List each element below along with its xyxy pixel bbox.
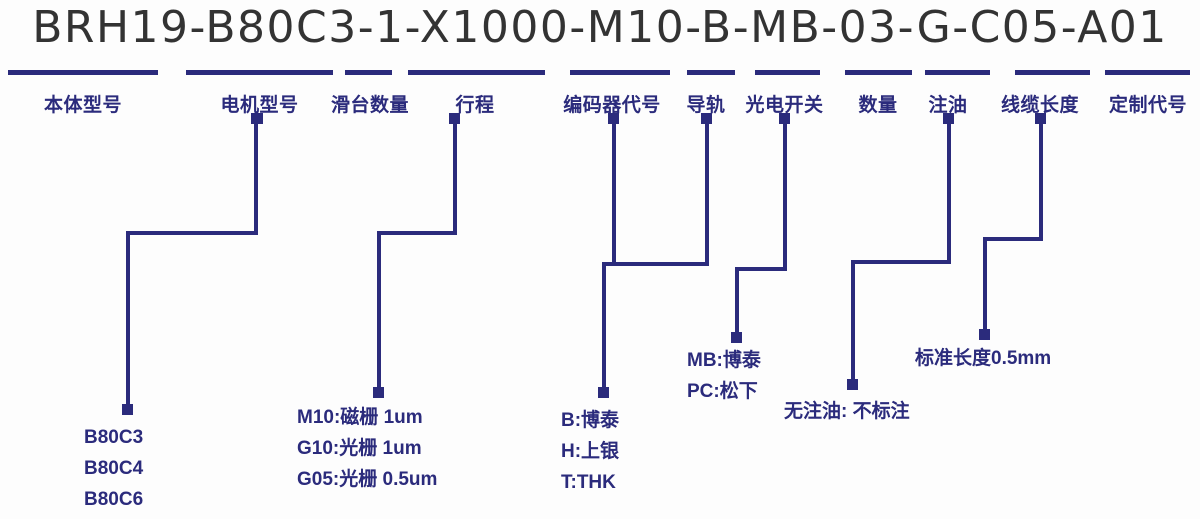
callout-option: M10:磁栅 1um xyxy=(297,402,437,433)
leader-cap-cable-length-end xyxy=(979,329,990,340)
field-label-stroke: 行程 xyxy=(430,90,520,117)
callout-option: PC:松下 xyxy=(687,376,761,407)
field-label-slide-count: 滑台数量 xyxy=(330,90,410,117)
leader-motor-model-v2 xyxy=(377,231,381,394)
field-label-custom-code: 定制代号 xyxy=(1100,90,1196,117)
leader-body-model-v2 xyxy=(126,231,130,411)
leader-lubrication-v1 xyxy=(947,120,951,263)
leader-cable-length-h xyxy=(983,237,1043,241)
callout-option: G10:光栅 1um xyxy=(297,433,437,464)
leader-photo-switch-v2 xyxy=(735,267,739,337)
leader-cap-motor-model-end xyxy=(373,387,384,398)
callout-body-model: B80C3 B80C4 B80C6 xyxy=(84,422,143,515)
leader-lubrication-v2 xyxy=(851,260,855,384)
callout-option: H:上银 xyxy=(561,436,619,467)
code-rule-rail xyxy=(687,70,735,75)
callout-option: T:THK xyxy=(561,467,619,498)
leader-cap-photo-switch-end xyxy=(731,332,742,343)
callout-option: B80C4 xyxy=(84,453,143,484)
model-number-breakdown-diagram: BRH19-B80C3-1-X1000-M10-B-MB-03-G-C05-A0… xyxy=(0,0,1200,519)
code-rule-stroke xyxy=(408,70,545,75)
leader-encoder-v1 xyxy=(612,120,616,265)
leader-encoder-v2 xyxy=(602,262,606,394)
leader-cable-length-v1 xyxy=(1039,120,1043,240)
leader-photo-switch-h xyxy=(735,267,787,271)
callout-photo-switch: MB:博泰 PC:松下 xyxy=(687,345,761,407)
code-rule-slide-count xyxy=(345,70,392,75)
leader-cable-length-v2 xyxy=(983,237,987,334)
leader-rail-v1 xyxy=(705,120,709,265)
leader-cap-motor-model-start xyxy=(252,113,263,124)
callout-option: B80C6 xyxy=(84,484,143,515)
code-rule-custom-code xyxy=(1105,70,1190,75)
callout-option: MB:博泰 xyxy=(687,345,761,376)
callout-encoder-spec: M10:磁栅 1um G10:光栅 1um G05:光栅 0.5um xyxy=(297,402,437,495)
code-rule-lubrication xyxy=(925,70,990,75)
leader-rail-h xyxy=(602,262,709,266)
code-rule-encoder xyxy=(570,70,670,75)
code-rule-motor-model xyxy=(186,70,333,75)
leader-photo-switch-v1 xyxy=(783,120,787,270)
field-label-quantity: 数量 xyxy=(843,90,913,117)
callout-option: B80C3 xyxy=(84,422,143,453)
leader-cap-lubrication-end xyxy=(847,379,858,390)
code-rule-quantity xyxy=(845,70,912,75)
leader-lubrication-h xyxy=(851,260,951,264)
code-rule-cable-length xyxy=(1015,70,1090,75)
leader-cap-body-model-end xyxy=(122,404,133,415)
field-label-body-model: 本体型号 xyxy=(8,90,158,117)
callout-cable-length: 标准长度0.5mm xyxy=(915,343,1051,374)
code-rule-body-model xyxy=(8,70,158,75)
leader-motor-model-v1 xyxy=(453,120,457,233)
leader-body-model-h xyxy=(126,231,258,235)
leader-body-model-v1 xyxy=(254,120,258,235)
callout-rail-brand: B:博泰 H:上银 T:THK xyxy=(561,405,619,498)
callout-option: G05:光栅 0.5um xyxy=(297,464,437,495)
leader-motor-model-h xyxy=(377,231,457,235)
callout-option: 无注油: 不标注 xyxy=(784,396,910,427)
callout-lubrication: 无注油: 不标注 xyxy=(784,396,910,427)
callout-option: 标准长度0.5mm xyxy=(915,343,1051,374)
callout-option: B:博泰 xyxy=(561,405,619,436)
leader-cap-encoder-end xyxy=(598,387,609,398)
code-rule-photo-switch xyxy=(755,70,820,75)
model-number-title: BRH19-B80C3-1-X1000-M10-B-MB-03-G-C05-A0… xyxy=(0,2,1200,53)
